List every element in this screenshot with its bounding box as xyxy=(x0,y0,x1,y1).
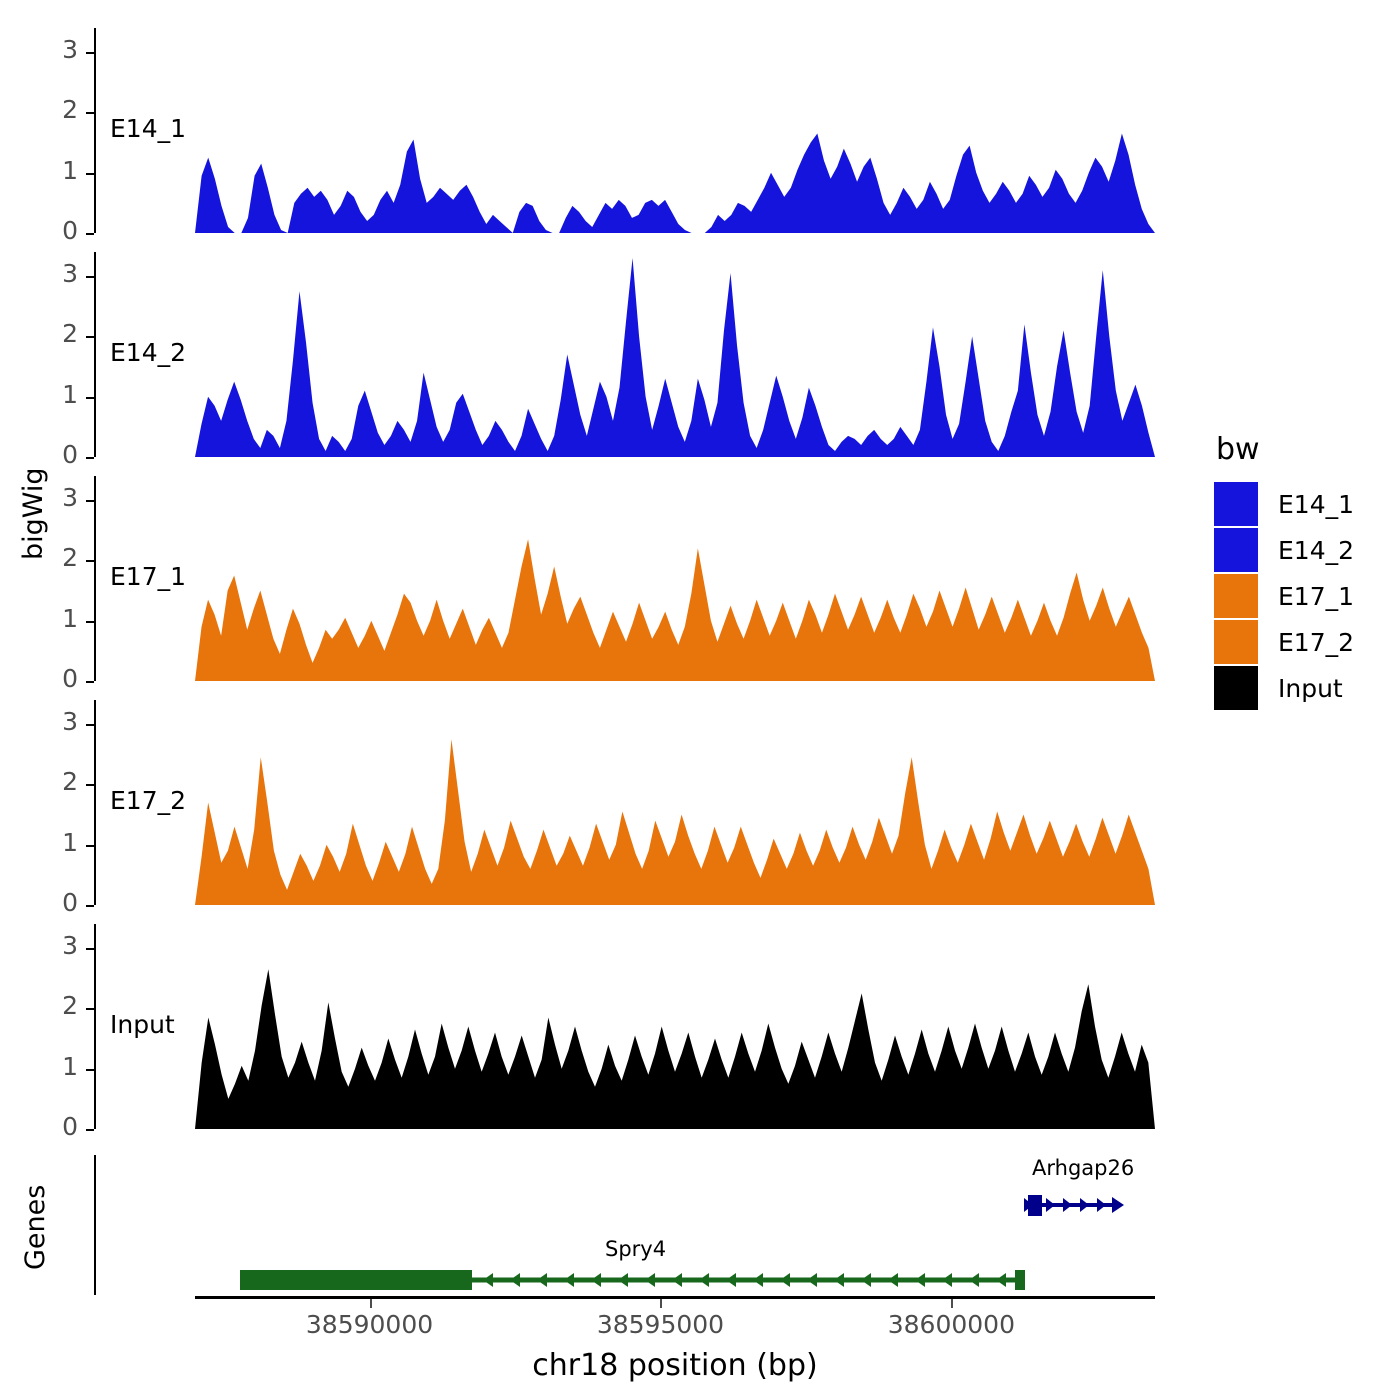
y-tick-label: 3 xyxy=(18,707,78,736)
legend-swatch-icon xyxy=(1214,666,1258,710)
y-axis-line xyxy=(94,476,96,681)
y-axis-line xyxy=(94,28,96,233)
track-label-e14_2: E14_2 xyxy=(110,338,186,367)
x-axis-title: chr18 position (bp) xyxy=(195,1348,1155,1383)
y-tick-label: 2 xyxy=(18,543,78,572)
y-tick-label: 3 xyxy=(18,931,78,960)
track-label-e17_1: E17_1 xyxy=(110,562,186,591)
y-tick xyxy=(86,1069,94,1071)
y-tick-label: 0 xyxy=(18,440,78,469)
legend-item-e17_1[interactable]: E17_1 xyxy=(1214,573,1354,619)
y-tick-label: 0 xyxy=(18,664,78,693)
legend-label: E14_2 xyxy=(1278,536,1354,565)
legend-item-e14_2[interactable]: E14_2 xyxy=(1214,527,1354,573)
y-tick-label: 2 xyxy=(18,767,78,796)
legend-label: Input xyxy=(1278,674,1343,703)
genes-axis-line xyxy=(94,1155,96,1295)
legend-items: E14_1E14_2E17_1E17_2Input xyxy=(1214,481,1354,711)
y-tick-label: 0 xyxy=(18,216,78,245)
y-tick xyxy=(86,1129,94,1131)
x-tick xyxy=(660,1299,662,1308)
x-tick xyxy=(951,1299,953,1308)
y-tick xyxy=(86,112,94,114)
y-tick xyxy=(86,1008,94,1010)
y-tick xyxy=(86,336,94,338)
y-tick xyxy=(86,845,94,847)
signal-plot-e14_2 xyxy=(195,252,1155,457)
x-axis-line xyxy=(195,1296,1155,1299)
gene-label-spry4: Spry4 xyxy=(605,1237,666,1261)
legend: bw E14_1E14_2E17_1E17_2Input xyxy=(1214,432,1354,711)
x-tick-label: 38595000 xyxy=(550,1310,770,1339)
y-tick xyxy=(86,724,94,726)
genome-browser-figure: bigWig Genes 0123E14_10123E14_20123E17_1… xyxy=(0,0,1400,1400)
y-tick-label: 0 xyxy=(18,1112,78,1141)
gene-arhgap26[interactable] xyxy=(1024,1195,1124,1216)
genes-plot-area xyxy=(195,1155,1155,1295)
track-label-e14_1: E14_1 xyxy=(110,114,186,143)
signal-plot-e17_2 xyxy=(195,700,1155,905)
y-tick-label: 1 xyxy=(18,380,78,409)
x-tick-label: 38600000 xyxy=(841,1310,1061,1339)
x-tick-label: 38590000 xyxy=(260,1310,480,1339)
signal-plot-e14_1 xyxy=(195,28,1155,233)
legend-item-e14_1[interactable]: E14_1 xyxy=(1214,481,1354,527)
y-tick xyxy=(86,233,94,235)
y-axis-label-genes: Genes xyxy=(20,1185,51,1270)
legend-swatch-icon xyxy=(1214,620,1258,664)
y-tick xyxy=(86,457,94,459)
y-tick xyxy=(86,784,94,786)
y-axis-line xyxy=(94,924,96,1129)
legend-swatch-icon xyxy=(1214,528,1258,572)
x-tick xyxy=(370,1299,372,1308)
legend-title: bw xyxy=(1216,432,1354,467)
track-label-e17_2: E17_2 xyxy=(110,786,186,815)
legend-swatch-icon xyxy=(1214,574,1258,618)
legend-item-e17_2[interactable]: E17_2 xyxy=(1214,619,1354,665)
legend-label: E17_2 xyxy=(1278,628,1354,657)
y-tick xyxy=(86,397,94,399)
y-tick xyxy=(86,560,94,562)
y-tick-label: 1 xyxy=(18,828,78,857)
y-tick xyxy=(86,621,94,623)
y-tick-label: 3 xyxy=(18,483,78,512)
y-tick xyxy=(86,173,94,175)
legend-label: E14_1 xyxy=(1278,490,1354,519)
y-tick xyxy=(86,52,94,54)
y-tick-label: 1 xyxy=(18,604,78,633)
y-tick-label: 1 xyxy=(18,156,78,185)
signal-plot-input xyxy=(195,924,1155,1129)
gene-spry4[interactable] xyxy=(240,1270,1025,1290)
y-tick-label: 2 xyxy=(18,319,78,348)
y-tick xyxy=(86,948,94,950)
y-tick xyxy=(86,276,94,278)
y-tick xyxy=(86,681,94,683)
y-tick xyxy=(86,905,94,907)
legend-swatch-icon xyxy=(1214,482,1258,526)
y-tick-label: 2 xyxy=(18,95,78,124)
track-label-input: Input xyxy=(110,1010,175,1039)
y-tick xyxy=(86,500,94,502)
legend-item-input[interactable]: Input xyxy=(1214,665,1354,711)
gene-label-arhgap26: Arhgap26 xyxy=(1032,1156,1134,1180)
y-axis-line xyxy=(94,252,96,457)
signal-plot-e17_1 xyxy=(195,476,1155,681)
y-tick-label: 2 xyxy=(18,991,78,1020)
y-tick-label: 1 xyxy=(18,1052,78,1081)
y-tick-label: 3 xyxy=(18,35,78,64)
y-axis-line xyxy=(94,700,96,905)
legend-label: E17_1 xyxy=(1278,582,1354,611)
y-tick-label: 0 xyxy=(18,888,78,917)
y-tick-label: 3 xyxy=(18,259,78,288)
